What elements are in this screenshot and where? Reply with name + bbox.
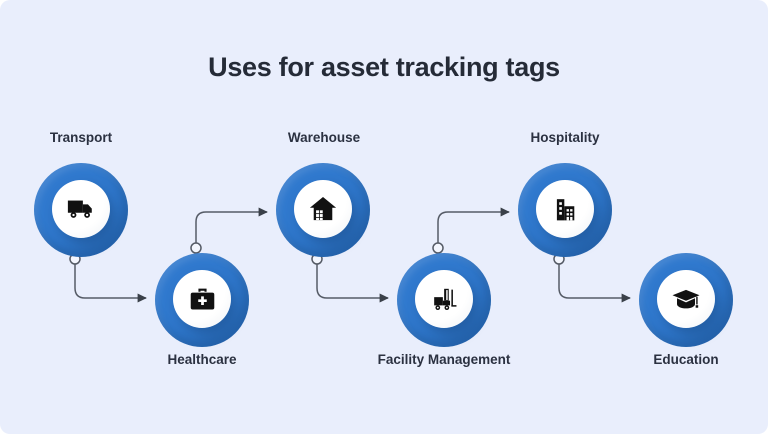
node-education[interactable] <box>639 253 733 347</box>
infographic-canvas: Uses for asset tracking tags <box>0 0 768 434</box>
node-icon-disc <box>657 270 715 328</box>
node-label-facility-management: Facility Management <box>324 352 564 367</box>
medical-briefcase-icon <box>188 285 217 314</box>
connector-hospitality-to-education <box>554 254 630 298</box>
node-icon-disc <box>52 180 110 238</box>
node-icon-disc <box>415 270 473 328</box>
node-transport[interactable] <box>34 163 128 257</box>
graduation-cap-icon <box>671 284 701 314</box>
connector-facility-management-to-hospitality <box>433 212 509 253</box>
connector-healthcare-to-warehouse <box>191 212 267 253</box>
node-icon-disc <box>173 270 231 328</box>
node-warehouse[interactable] <box>276 163 370 257</box>
truck-icon <box>66 194 96 224</box>
connector-start-dot <box>191 243 201 253</box>
node-label-transport: Transport <box>0 130 201 145</box>
connector-warehouse-to-facility-management <box>312 254 388 298</box>
hotel-buildings-icon <box>551 195 580 224</box>
connector-start-dot <box>433 243 443 253</box>
node-label-healthcare: Healthcare <box>82 352 322 367</box>
node-facility-management[interactable] <box>397 253 491 347</box>
forklift-icon <box>430 285 459 314</box>
warehouse-house-icon <box>308 194 338 224</box>
page-title: Uses for asset tracking tags <box>0 52 768 83</box>
node-icon-disc <box>536 180 594 238</box>
node-icon-disc <box>294 180 352 238</box>
node-label-hospitality: Hospitality <box>445 130 685 145</box>
node-hospitality[interactable] <box>518 163 612 257</box>
connector-transport-to-healthcare <box>70 254 146 298</box>
node-healthcare[interactable] <box>155 253 249 347</box>
node-label-education: Education <box>566 352 768 367</box>
node-label-warehouse: Warehouse <box>204 130 444 145</box>
